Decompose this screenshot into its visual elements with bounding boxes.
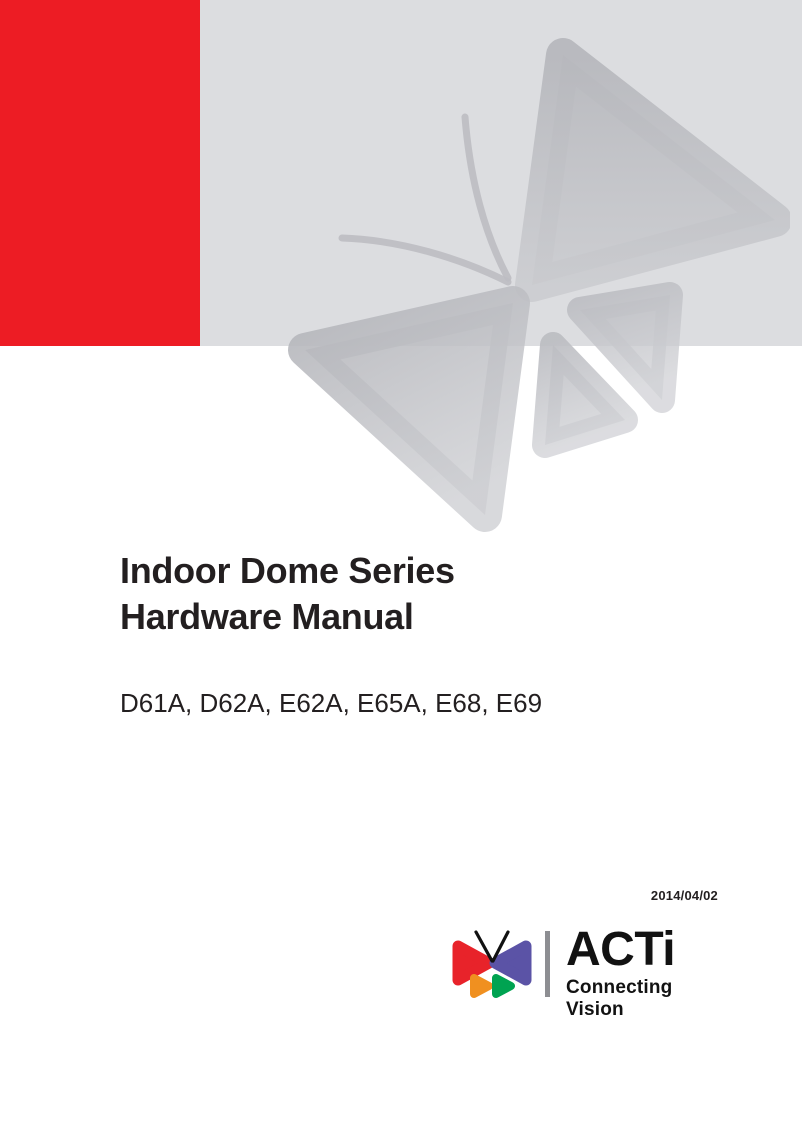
acti-butterfly-logo-icon — [446, 928, 538, 1002]
document-date: 2014/04/02 — [651, 888, 718, 903]
page-title-line-2: Hardware Manual — [120, 594, 740, 640]
logo-divider — [545, 931, 550, 997]
logo-text-group: ACTi Connecting Vision — [566, 924, 731, 1021]
title-block: Indoor Dome Series Hardware Manual D61A,… — [120, 548, 740, 719]
acti-logo: ACTi Connecting Vision — [446, 928, 726, 1010]
document-cover-page: Indoor Dome Series Hardware Manual D61A,… — [0, 0, 802, 1134]
red-accent-block — [0, 0, 200, 346]
logo-wordmark: ACTi — [566, 924, 731, 976]
model-list: D61A, D62A, E62A, E65A, E68, E69 — [120, 688, 740, 719]
page-title-line-1: Indoor Dome Series — [120, 548, 740, 594]
logo-tagline: Connecting Vision — [566, 977, 731, 1021]
